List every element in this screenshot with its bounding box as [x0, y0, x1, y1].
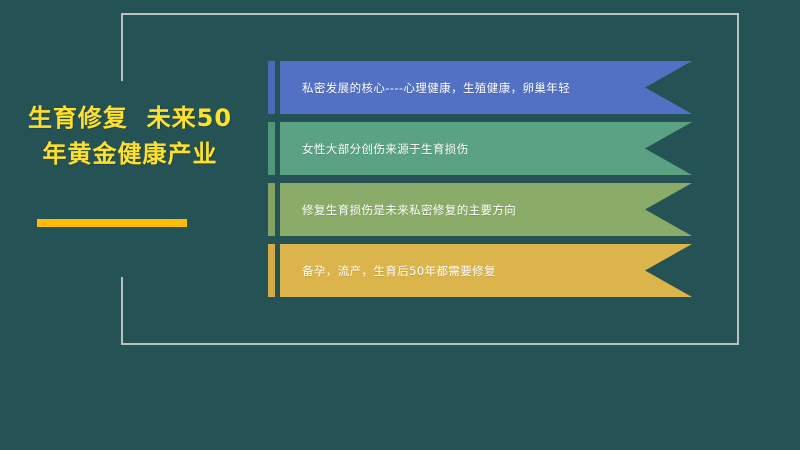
- ribbon-label: 备孕，流产，生育后50年都需要修复: [280, 263, 552, 279]
- ribbon-body: 女性大部分创伤来源于生育损伤: [280, 122, 692, 175]
- ribbon-tab: [268, 183, 275, 236]
- ribbon-tab: [268, 61, 275, 114]
- ribbon-label: 修复生育损伤是未来私密修复的主要方向: [280, 202, 572, 218]
- frame-right-line: [737, 13, 739, 345]
- frame-bottom-line: [121, 343, 739, 345]
- ribbon-label: 女性大部分创伤来源于生育损伤: [280, 141, 525, 157]
- ribbon-label: 私密发展的核心----心理健康，生殖健康，卵巢年轻: [280, 80, 626, 96]
- frame-top-line: [121, 13, 739, 15]
- ribbon-body: 备孕，流产，生育后50年都需要修复: [280, 244, 692, 297]
- frame-left-upper-line: [121, 13, 123, 81]
- slide-title: 生育修复 未来50年黄金健康产业: [18, 100, 242, 172]
- frame-left-lower-line: [121, 277, 123, 345]
- ribbon-tab: [268, 122, 275, 175]
- title-block: 生育修复 未来50年黄金健康产业: [18, 100, 242, 172]
- ribbon-tab: [268, 244, 275, 297]
- title-underline-bar: [37, 219, 187, 227]
- ribbon-body: 私密发展的核心----心理健康，生殖健康，卵巢年轻: [280, 61, 692, 114]
- slide-canvas: 生育修复 未来50年黄金健康产业 私密发展的核心----心理健康，生殖健康，卵巢…: [0, 0, 800, 450]
- ribbon-body: 修复生育损伤是未来私密修复的主要方向: [280, 183, 692, 236]
